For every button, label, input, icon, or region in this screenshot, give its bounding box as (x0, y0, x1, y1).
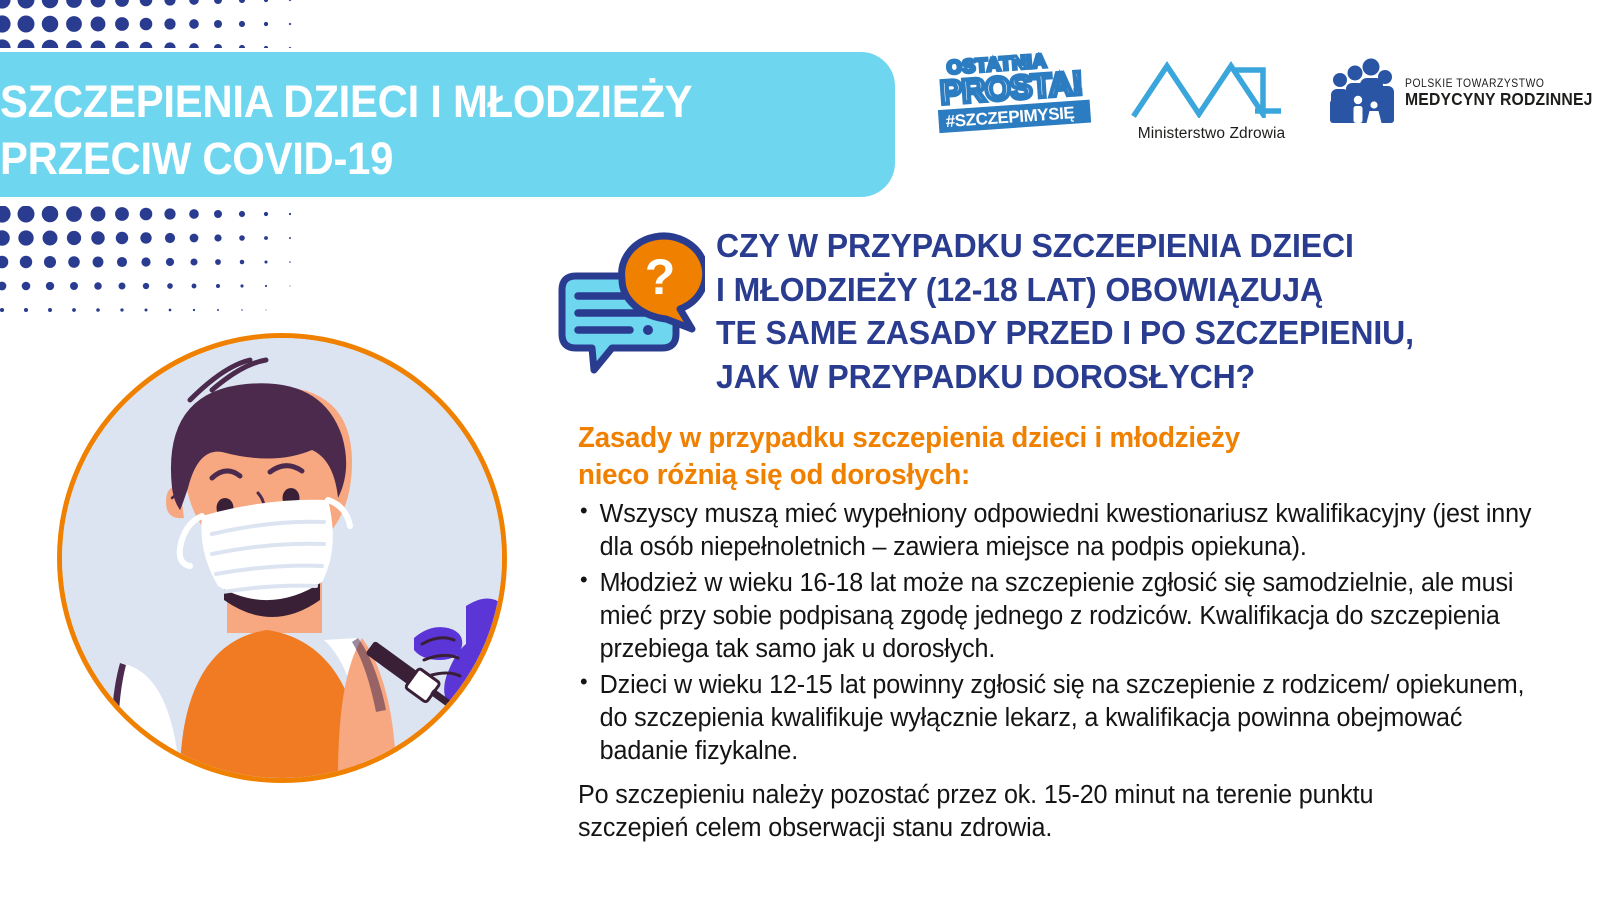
dot-pattern-top (0, 0, 324, 48)
vaccinated-teen-illustration (57, 333, 507, 783)
dot-pattern-left (0, 206, 324, 326)
ostatnia-prosta-logo: OSTATNIA PROSTA! #SZCZEPIMYSIĘ (935, 52, 1095, 145)
list-item: Wszyscy muszą mieć wypełniony odpowiedni… (578, 498, 1533, 564)
ptmr-logo: POLSKIE TOWARZYSTWO MEDYCYNY RODZINNEJ (1328, 52, 1600, 128)
logo-row: OSTATNIA PROSTA! #SZCZEPIMYSIĘ Ministers… (935, 52, 1555, 162)
ptmr-line-bottom: MEDYCYNY RODZINNEJ (1405, 90, 1593, 108)
rules-list: Wszyscy muszą mieć wypełniony odpowiedni… (578, 498, 1548, 768)
list-item: Dzieci w wieku 12-15 lat powinny zgłosić… (578, 669, 1533, 768)
header-banner: SZCZEPIENIA DZIECI I MŁODZIEŻY PRZECIW C… (0, 52, 895, 197)
page-title: SZCZEPIENIA DZIECI I MŁODZIEŻY PRZECIW C… (0, 74, 809, 187)
question-speech-bubbles-icon: ? (540, 228, 705, 393)
answer-body: Zasady w przypadku szczepienia dzieci i … (578, 420, 1548, 845)
question-heading: CZY W PRZYPADKU SZCZEPIENIA DZIECI I MŁO… (716, 225, 1537, 400)
closing-paragraph: Po szczepieniu należy pozostać przez ok.… (578, 779, 1533, 845)
mz-mark-icon (1129, 56, 1294, 118)
ministry-caption: Ministerstwo Zdrowia (1129, 125, 1294, 143)
list-item: Młodzież w wieku 16-18 lat może na szcze… (578, 567, 1533, 666)
infographic-canvas: SZCZEPIENIA DZIECI I MŁODZIEŻY PRZECIW C… (0, 0, 1600, 900)
ministerstwo-zdrowia-logo: Ministerstwo Zdrowia (1129, 52, 1294, 143)
question-mark-glyph: ? (645, 249, 676, 305)
people-group-icon (1328, 58, 1396, 128)
answer-subtitle: Zasady w przypadku szczepienia dzieci i … (578, 420, 1519, 494)
